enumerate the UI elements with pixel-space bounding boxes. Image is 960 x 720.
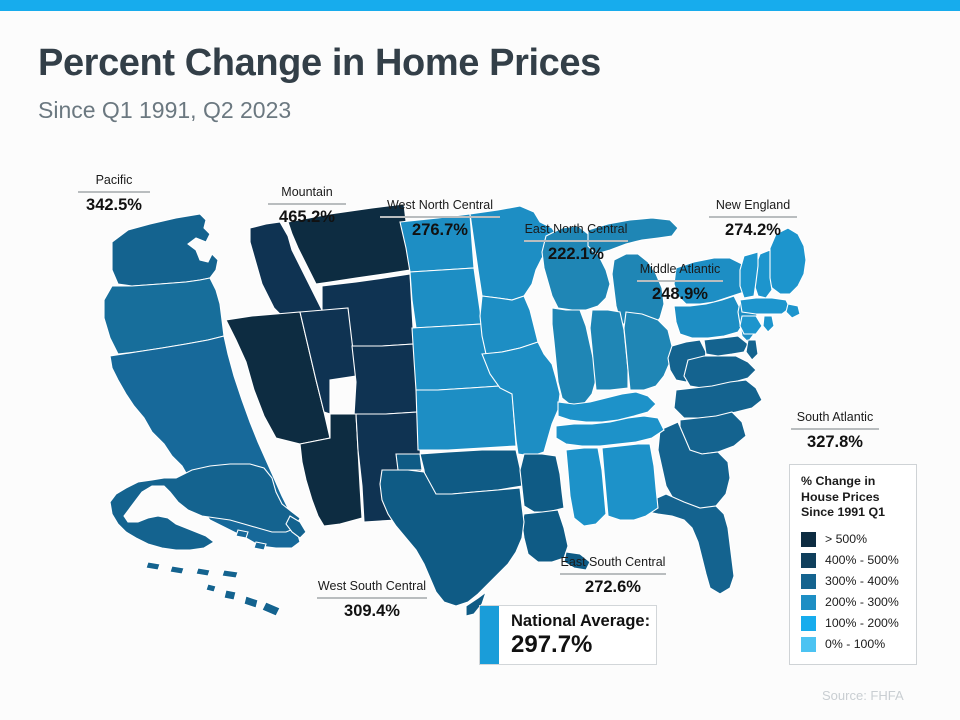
callout-rule (317, 597, 427, 599)
map-region-new-england[interactable] (740, 228, 806, 334)
callout-rule (380, 216, 500, 218)
callout-rule (268, 203, 346, 205)
legend-label: 200% - 300% (825, 595, 899, 609)
callout-new-england: New England 274.2% (703, 198, 803, 240)
callout-east-north-central-name: East North Central (509, 222, 643, 237)
callout-west-south-central-value: 309.4% (305, 601, 439, 621)
callout-south-atlantic-name: South Atlantic (782, 410, 888, 425)
legend-item-0-100[interactable]: 0% - 100% (801, 634, 916, 655)
callout-west-north-central-name: West North Central (372, 198, 508, 213)
callout-rule (791, 428, 879, 430)
legend-item-100-200[interactable]: 100% - 200% (801, 613, 916, 634)
callout-pacific-name: Pacific (72, 173, 156, 188)
page-title: Percent Change in Home Prices (38, 42, 601, 85)
callout-rule (560, 573, 666, 575)
legend-item-200-300[interactable]: 200% - 300% (801, 592, 916, 613)
top-accent-bar (0, 0, 960, 11)
legend-swatch-icon (801, 532, 816, 547)
callout-east-south-central-name: East South Central (546, 555, 680, 570)
callout-new-england-value: 274.2% (703, 220, 803, 240)
callout-rule (709, 216, 797, 218)
callout-middle-atlantic: Middle Atlantic 248.9% (622, 262, 738, 304)
legend-title-line1: % Change in (801, 474, 906, 490)
source-note: Source: FHFA (822, 688, 904, 703)
national-average-value: 297.7% (511, 631, 650, 658)
national-average-label: National Average: (511, 611, 650, 631)
callout-west-south-central-name: West South Central (305, 579, 439, 594)
callout-mountain-value: 465.2% (263, 207, 351, 227)
legend-item-300-400[interactable]: 300% - 400% (801, 571, 916, 592)
legend-swatch-icon (801, 616, 816, 631)
legend-swatch-icon (801, 637, 816, 652)
map-region-east-south-central[interactable] (556, 392, 664, 526)
legend-label: > 500% (825, 532, 867, 546)
callout-east-south-central-value: 272.6% (546, 577, 680, 597)
slide-canvas: Percent Change in Home Prices Since Q1 1… (0, 0, 960, 720)
callout-mountain: Mountain 465.2% (263, 185, 351, 227)
callout-rule (637, 280, 723, 282)
callout-mountain-name: Mountain (263, 185, 351, 200)
callout-south-atlantic-value: 327.8% (782, 432, 888, 452)
callout-rule (524, 240, 628, 242)
legend-swatch-icon (801, 553, 816, 568)
callout-east-north-central: East North Central 222.1% (509, 222, 643, 264)
national-average-accent-bar (480, 606, 499, 664)
legend-label: 300% - 400% (825, 574, 899, 588)
callout-middle-atlantic-value: 248.9% (622, 284, 738, 304)
map-legend: % Change in House Prices Since 1991 Q1 >… (789, 464, 917, 665)
legend-item-over-500[interactable]: > 500% (801, 529, 916, 550)
legend-title-line3: Since 1991 Q1 (801, 505, 906, 521)
callout-middle-atlantic-name: Middle Atlantic (622, 262, 738, 277)
national-average-box: National Average: 297.7% (479, 605, 657, 665)
page-subtitle: Since Q1 1991, Q2 2023 (38, 97, 291, 124)
legend-label: 0% - 100% (825, 637, 885, 651)
callout-pacific-value: 342.5% (72, 195, 156, 215)
legend-swatch-icon (801, 595, 816, 610)
callout-pacific: Pacific 342.5% (72, 173, 156, 215)
callout-south-atlantic: South Atlantic 327.8% (782, 410, 888, 452)
legend-label: 100% - 200% (825, 616, 899, 630)
callout-new-england-name: New England (703, 198, 803, 213)
legend-title: % Change in House Prices Since 1991 Q1 (801, 474, 906, 521)
legend-swatch-icon (801, 574, 816, 589)
callout-east-north-central-value: 222.1% (509, 244, 643, 264)
callout-west-south-central: West South Central 309.4% (305, 579, 439, 621)
callout-rule (78, 191, 150, 193)
legend-label: 400% - 500% (825, 553, 899, 567)
legend-item-400-500[interactable]: 400% - 500% (801, 550, 916, 571)
legend-rows: > 500% 400% - 500% 300% - 400% 200% - 30… (801, 529, 916, 655)
callout-west-north-central-value: 276.7% (372, 220, 508, 240)
callout-east-south-central: East South Central 272.6% (546, 555, 680, 597)
national-average-content: National Average: 297.7% (499, 606, 650, 664)
callout-west-north-central: West North Central 276.7% (372, 198, 508, 240)
legend-title-line2: House Prices (801, 490, 906, 506)
